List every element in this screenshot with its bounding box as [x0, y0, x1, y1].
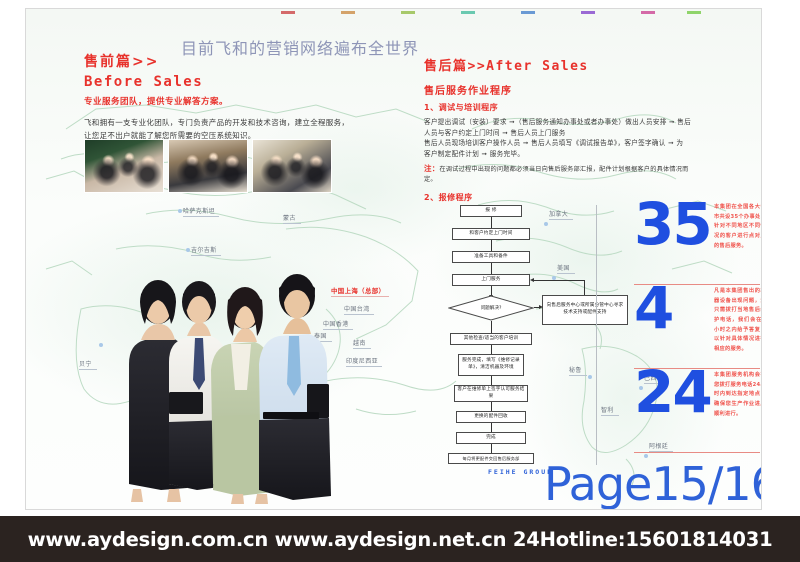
sales-team-photo [111, 184, 351, 504]
stat-text: 本集团服务机构会在您拨打服务电话24小时内到达指定地点，确保您生产作业进度顺利进… [714, 371, 762, 419]
note-text: 在调试过程中出现的问题都必须当日向售后服务部汇报，配件计划根据客户的具体情况而定… [424, 166, 689, 183]
flow-node: 每月将更配件交回售后服务部 [448, 453, 534, 464]
flow-arrow [491, 240, 492, 251]
flow-node: 客户在维修单上签字认可服务结果 [454, 385, 528, 402]
after-sales-heading: 售后篇>>After Sales [424, 55, 694, 74]
after-sales-step1-line1: 客户提出调试（安装）要求 ➞（售后服务通知办事处或者办事处）做出人员安排 ➞ 售… [424, 117, 694, 128]
footer-banner: www.aydesign.com.cn www.aydesign.net.cn … [0, 516, 800, 562]
footer-banner-text: www.aydesign.com.cn www.aydesign.net.cn … [28, 528, 773, 551]
flow-node: 完成 [456, 432, 526, 444]
flow-arrowhead [539, 305, 543, 309]
before-sales-body-line1: 飞和拥有一支专业化团队，专门负责产品的开发和技术咨询，建立全程服务， [84, 116, 354, 129]
stat-number: 4 [634, 279, 672, 337]
after-sales-block: 售后篇>>After Sales 售后服务作业程序 1、调试与培训程序 客户提出… [424, 55, 694, 207]
stat-item: 35 本集团在全国各大省市共设35个办事处，针对不同地区不同情况的客户进行点对点… [638, 201, 762, 285]
flow-arrow [491, 263, 492, 274]
after-sales-step1-line3: 售后人员现场培训客户操作人员 ➞ 售后人员填写《调试报告单》，客户签字确认 ➞ … [424, 138, 694, 149]
after-sales-procedure-title: 售后服务作业程序 [424, 82, 694, 97]
flow-decision-label: 问题解决? [448, 295, 534, 321]
before-sales-heading-en: Before Sales [84, 74, 354, 90]
stat-item: 24 本集团服务机构会在您拨打服务电话24小时内到达指定地点，确保您生产作业进度… [638, 369, 762, 453]
flow-node: 准备工具和备件 [452, 251, 530, 263]
flow-node: 服务完成，填写《维修记录单》，清洁机器及环境 [458, 354, 524, 376]
flow-support-node: 向售后服务中心或所属分管中心寻求技术支持或配件支持 [542, 295, 628, 325]
stat-text: 本集团在全国各大省市共设35个办事处，针对不同地区不同情况的客户进行点对点的售后… [714, 203, 762, 251]
flow-arrowhead [530, 278, 534, 282]
flow-node: 报 修 [460, 205, 522, 217]
vertical-divider [596, 205, 597, 465]
after-sales-step1-line2: 人员与客户约定上门时间 ➞ 售后人员上门服务 [424, 128, 694, 139]
flow-decision-node: 问题解决? [448, 295, 534, 321]
brochure-spread: 哈萨克斯坦 蒙古 吉尔吉斯 中国上海（总部） 中国台湾 中国香港 越南 印度尼西… [0, 0, 800, 562]
flow-arrow [491, 345, 492, 354]
flow-connector [584, 280, 585, 295]
flow-connector [534, 280, 585, 281]
flow-arrow [491, 423, 492, 432]
top-color-ticks [281, 11, 701, 17]
before-sales-heading-cn: 售前篇>> [84, 51, 354, 71]
person-man-right [259, 274, 331, 500]
flow-arrow [491, 321, 492, 333]
flow-arrow [491, 217, 492, 228]
before-sales-subtitle: 专业服务团队，提供专业解答方案。 [84, 95, 354, 107]
flow-arrow [491, 376, 492, 385]
page-number: Page15/16 [544, 461, 762, 507]
stat-item: 4 凡是本集团售出的机器设备出现问题，您只需拨打当地售后维护电话，我们会在4小时… [638, 285, 762, 369]
flow-arrow [491, 286, 492, 295]
stat-text: 凡是本集团售出的机器设备出现问题，您只需拨打当地售后维护电话，我们会在4小时之内… [714, 287, 762, 354]
flow-node: 其他检查/适当的客户培训 [450, 333, 532, 345]
note-label: 注： [424, 164, 439, 173]
stats-panel: 35 本集团在全国各大省市共设35个办事处，针对不同地区不同情况的客户进行点对点… [638, 201, 762, 453]
before-sales-block: 售前篇>> Before Sales 专业服务团队，提供专业解答方案。 飞和拥有… [84, 51, 354, 142]
flow-node: 上门服务 [452, 274, 530, 286]
repair-flowchart: 报 修 和客户约定上门时间 准备工具和备件 上门服务 问题解决? 向售后服务中心… [434, 205, 634, 463]
map-label: 贝宁 [79, 359, 92, 368]
after-sales-step1-line4: 客户制定配件计划 ➞ 服务完毕。 [424, 149, 694, 160]
after-sales-step1-title: 1、调试与培训程序 [424, 102, 694, 113]
flow-node: 和客户约定上门时间 [452, 228, 530, 240]
stat-number: 24 [634, 363, 711, 421]
flow-node: 更换的配件回收 [456, 411, 526, 423]
page-canvas: 哈萨克斯坦 蒙古 吉尔吉斯 中国上海（总部） 中国台湾 中国香港 越南 印度尼西… [25, 8, 762, 510]
map-marker-dot [99, 343, 103, 347]
flow-arrow [491, 444, 492, 453]
stat-number: 35 [634, 195, 711, 253]
stat-divider [634, 452, 760, 453]
after-sales-note: 注：在调试过程中出现的问题都必须当日向售后服务部汇报，配件计划根据客户的具体情况… [424, 163, 694, 183]
flow-arrow [491, 402, 492, 411]
map-label: 越南 [353, 338, 366, 347]
